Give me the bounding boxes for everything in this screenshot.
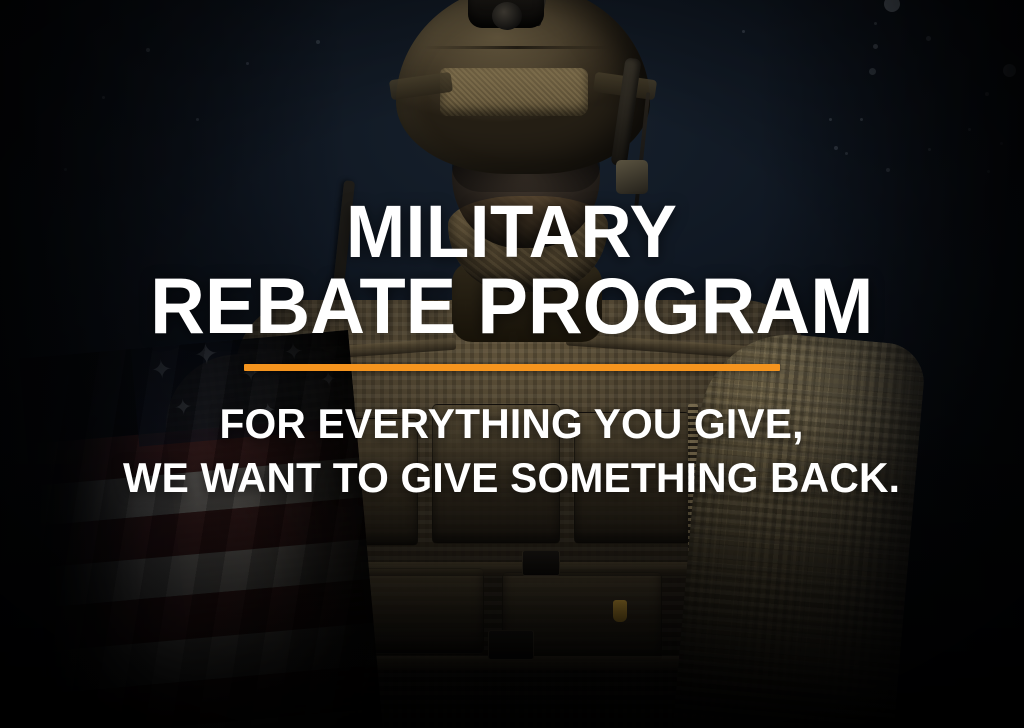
orange-divider	[244, 364, 780, 371]
military-rebate-banner: ✦ ✦ ✦ ✦ ✦ ✦ ✦ MILITARY REBATE PROGRAM FO…	[0, 0, 1024, 728]
subheadline-line-2: WE WANT TO GIVE SOMETHING BACK.	[123, 451, 900, 505]
text-overlay: MILITARY REBATE PROGRAM FOR EVERYTHING Y…	[0, 0, 1024, 728]
subheadline-line-1: FOR EVERYTHING YOU GIVE,	[220, 400, 804, 447]
subheadline: FOR EVERYTHING YOU GIVE, WE WANT TO GIVE…	[123, 397, 900, 505]
headline-line-2: REBATE PROGRAM	[150, 268, 873, 345]
headline: MILITARY REBATE PROGRAM	[150, 196, 873, 344]
